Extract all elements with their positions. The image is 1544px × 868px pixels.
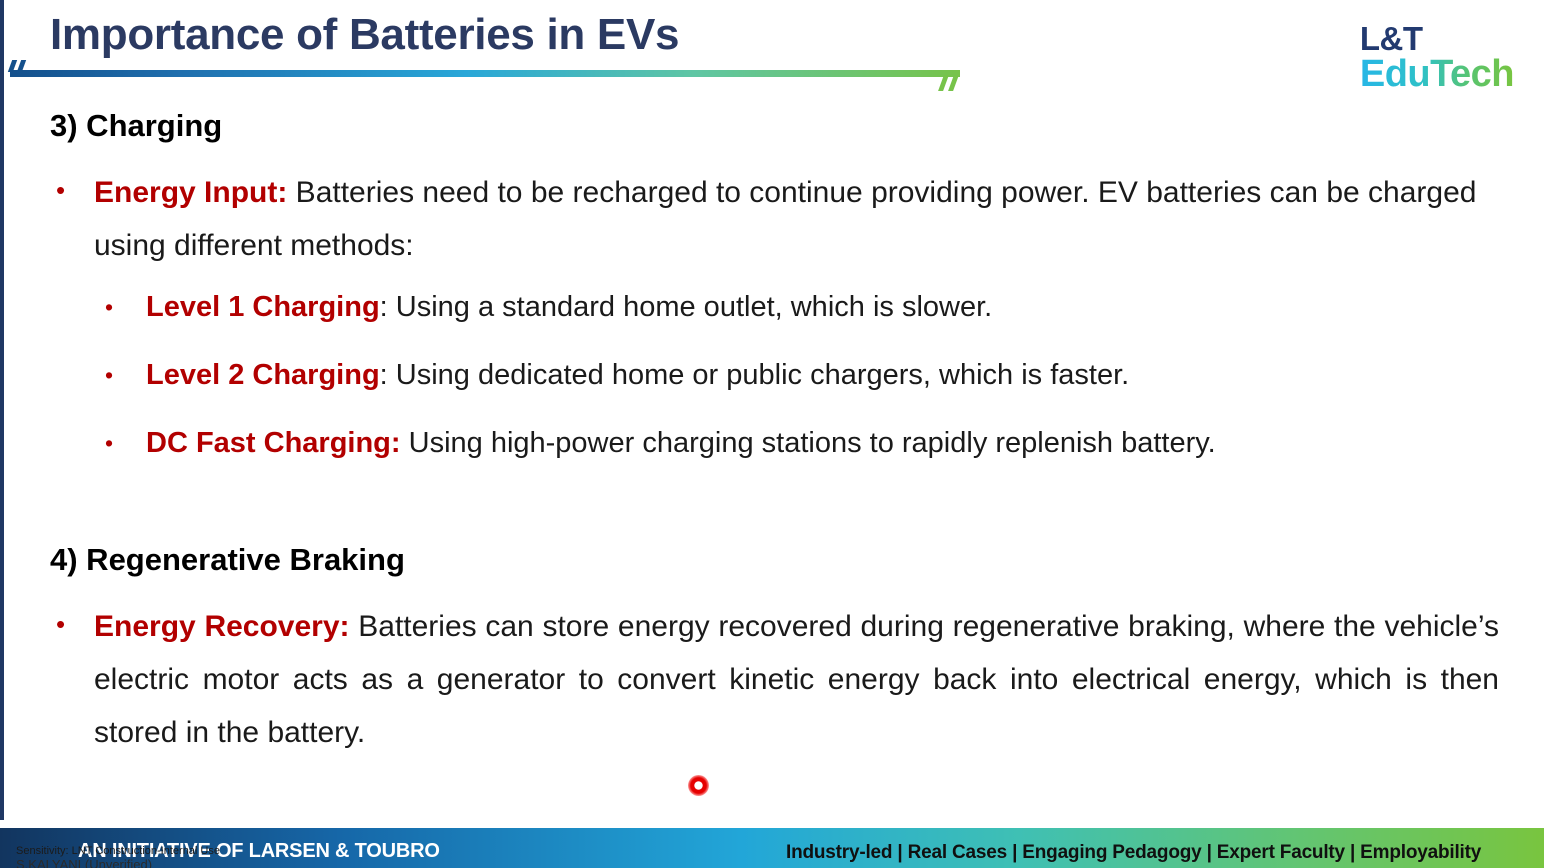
subbullet-body-dc-fast: Using high-power charging stations to ra…: [401, 427, 1216, 459]
bullet-dot-icon: •: [50, 166, 94, 272]
subbullet-body-level-2: : Using dedicated home or public charger…: [380, 359, 1130, 391]
subbullet-level-1-charging: • Level 1 Charging: Using a standard hom…: [105, 284, 1499, 330]
subbullet-level-2-charging: • Level 2 Charging: Using dedicated home…: [105, 352, 1499, 398]
bullet-energy-recovery-text: Energy Recovery: Batteries can store ene…: [94, 600, 1499, 759]
subbullet-level-1-text: Level 1 Charging: Using a standard home …: [146, 284, 1499, 330]
sensitivity-line-2: S.KALYANI (Unverified): [16, 859, 220, 868]
subbullet-dot-icon: •: [105, 352, 146, 398]
subbullet-lead-level-2: Level 2 Charging: [146, 359, 380, 391]
subbullet-level-2-text: Level 2 Charging: Using dedicated home o…: [146, 352, 1499, 398]
subbullet-dot-icon: •: [105, 284, 146, 330]
subbullet-lead-dc-fast: DC Fast Charging:: [146, 427, 401, 459]
bullet-energy-input: • Energy Input: Batteries need to be rec…: [50, 166, 1499, 272]
subbullet-dot-icon: •: [105, 420, 146, 466]
slide-canvas: Importance of Batteries in EVs L&T EduTe…: [0, 0, 1544, 868]
footer-bar: AN INITIATIVE OF LARSEN & TOUBRO Industr…: [0, 828, 1544, 868]
bullet-energy-input-text: Energy Input: Batteries need to be recha…: [94, 166, 1499, 272]
footer-tagline-text: Industry-led | Real Cases | Engaging Ped…: [786, 842, 1481, 864]
section-heading-charging: 3) Charging: [50, 108, 1544, 144]
subbullet-dc-fast-text: DC Fast Charging: Using high-power charg…: [146, 420, 1499, 466]
slide-body: 3) Charging • Energy Input: Batteries ne…: [0, 108, 1544, 820]
section-heading-regenerative-braking: 4) Regenerative Braking: [50, 542, 1544, 578]
brand-logo: L&T EduTech: [1360, 22, 1514, 93]
title-block: Importance of Batteries in EVs: [0, 0, 1000, 100]
sensitivity-line-1: Sensitivity: LNT Construction-Internal U…: [16, 845, 220, 857]
title-divider: [10, 70, 960, 77]
bullet-dot-icon: •: [50, 600, 94, 759]
bullet-lead-energy-recovery: Energy Recovery:: [94, 610, 350, 643]
logo-edutech-text: EduTech: [1360, 55, 1514, 93]
sensitivity-label: Sensitivity: LNT Construction-Internal U…: [16, 846, 220, 868]
divider-tick-right-icon: [938, 75, 964, 91]
bullet-energy-recovery: • Energy Recovery: Batteries can store e…: [50, 600, 1499, 759]
page-title: Importance of Batteries in EVs: [50, 10, 679, 60]
bullet-lead-energy-input: Energy Input:: [94, 176, 287, 209]
bullet-body-energy-input: Batteries need to be recharged to contin…: [94, 176, 1476, 262]
subbullet-body-level-1: : Using a standard home outlet, which is…: [380, 291, 993, 323]
subbullet-dc-fast-charging: • DC Fast Charging: Using high-power cha…: [105, 420, 1499, 466]
subbullet-lead-level-1: Level 1 Charging: [146, 291, 380, 323]
logo-lt-text: L&T: [1360, 22, 1514, 55]
